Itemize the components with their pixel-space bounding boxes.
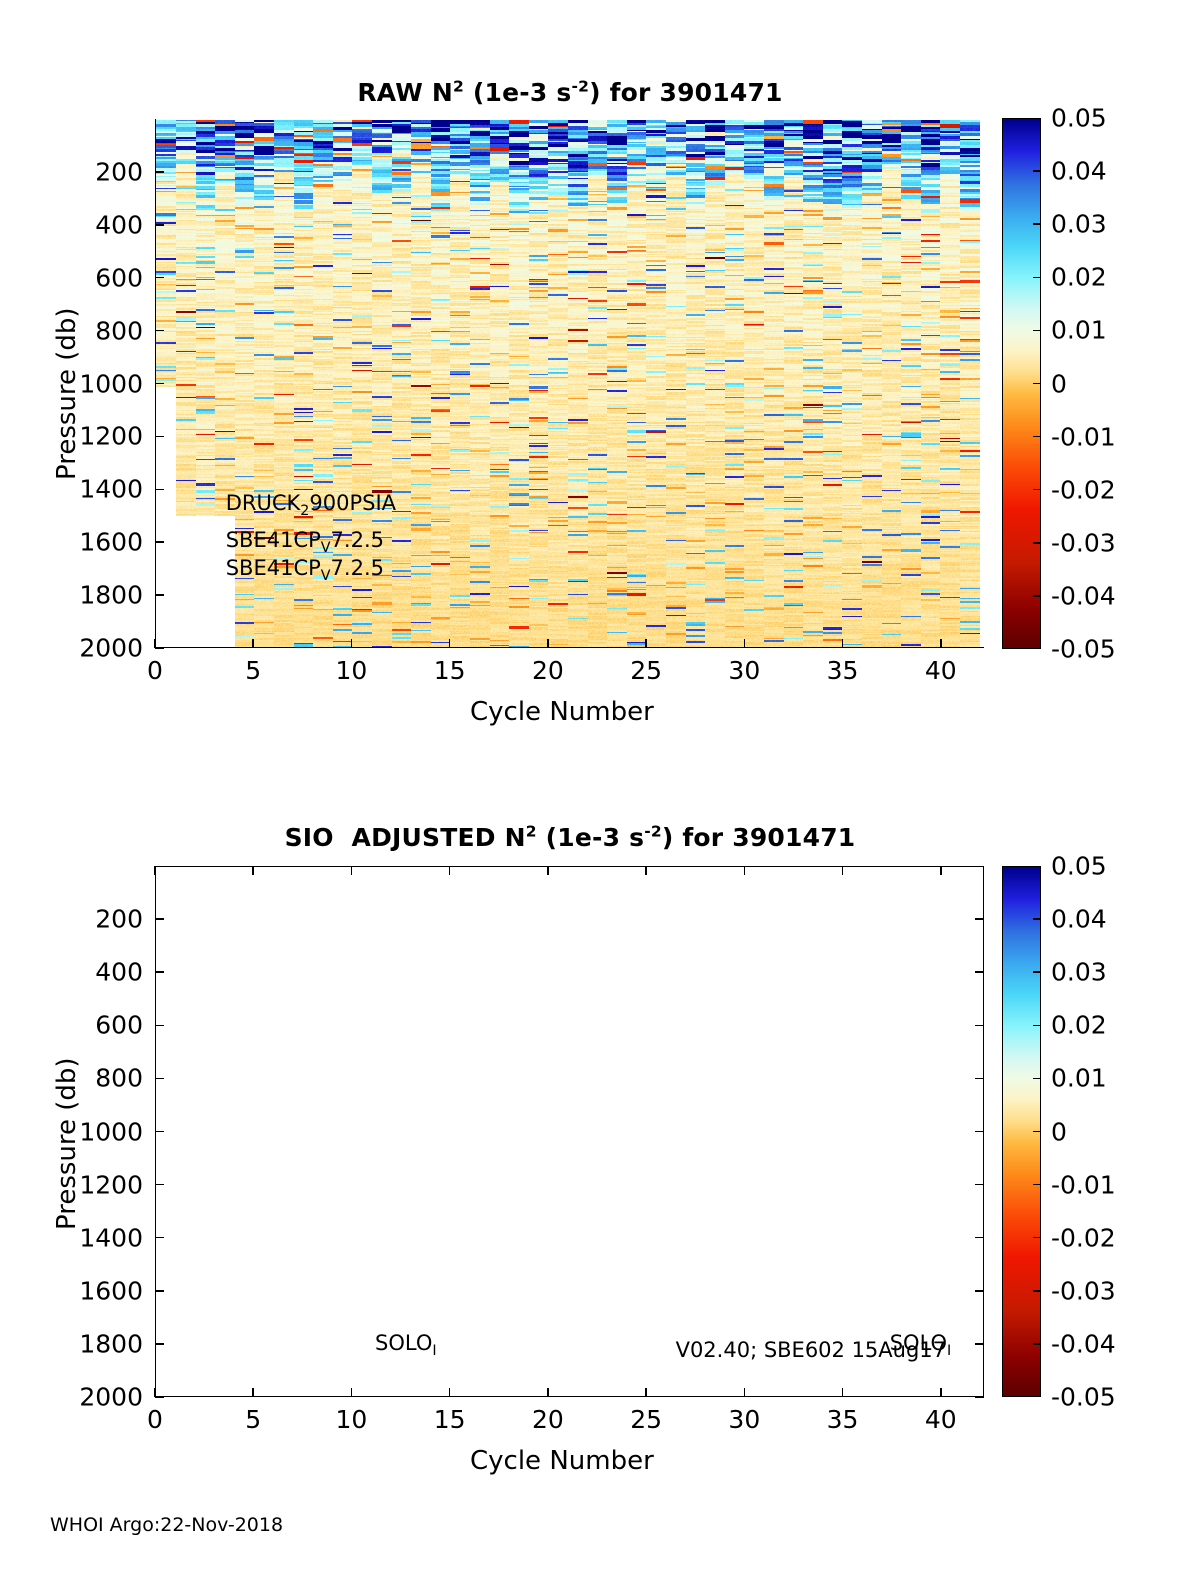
plot-annotation: SOLOI xyxy=(375,1331,437,1355)
colorbar-tick-label: -0.05 xyxy=(1051,1383,1116,1412)
colorbar-tick-mark xyxy=(1033,1131,1040,1133)
y-tick-label: 1800 xyxy=(43,1329,143,1358)
colorbar-tick-mark xyxy=(1033,971,1040,973)
colorbar-tick-label: -0.03 xyxy=(1051,1276,1116,1305)
y-tick-label: 400 xyxy=(43,210,143,239)
plot-annotation: SOLOI xyxy=(890,1331,952,1355)
colorbar-tick-mark xyxy=(1033,1025,1040,1027)
y-tick-mark-right xyxy=(975,1343,984,1345)
x-tick-label: 40 xyxy=(925,1405,957,1434)
adjusted-axes-frame xyxy=(155,866,984,1397)
y-tick-label: 600 xyxy=(43,1011,143,1040)
y-tick-mark xyxy=(155,594,164,596)
colorbar-tick-mark xyxy=(1033,223,1040,225)
y-tick-mark-right xyxy=(975,1237,984,1239)
y-tick-mark xyxy=(155,1237,164,1239)
y-tick-mark xyxy=(155,277,164,279)
x-tick-label: 0 xyxy=(147,656,163,685)
y-tick-label: 600 xyxy=(43,263,143,292)
colorbar-tick-mark xyxy=(1033,542,1040,544)
colorbar-tick-mark xyxy=(1033,918,1040,920)
raw-plot-title: RAW N2 (1e-3 s-2) for 3901471 xyxy=(155,78,985,107)
y-tick-mark xyxy=(155,918,164,920)
y-tick-mark xyxy=(155,1025,164,1027)
x-tick-mark-top xyxy=(351,866,353,875)
x-tick-mark xyxy=(645,1388,647,1397)
x-tick-mark xyxy=(154,639,156,648)
y-tick-mark xyxy=(155,1396,164,1398)
x-tick-mark xyxy=(547,639,549,648)
x-tick-mark xyxy=(252,1388,254,1397)
x-tick-label: 5 xyxy=(245,656,261,685)
x-tick-mark xyxy=(645,639,647,648)
y-tick-label: 1600 xyxy=(43,528,143,557)
y-tick-mark xyxy=(155,647,164,649)
y-tick-mark xyxy=(155,1290,164,1292)
colorbar-tick-mark xyxy=(1033,330,1040,332)
x-tick-label: 35 xyxy=(827,656,859,685)
y-tick-mark-right xyxy=(975,1025,984,1027)
colorbar-tick-label: -0.03 xyxy=(1051,528,1116,557)
adjusted-plot-title: SIO ADJUSTED N2 (1e-3 s-2) for 3901471 xyxy=(155,823,985,852)
colorbar-tick-mark xyxy=(1033,1343,1040,1345)
plot-annotation: SBE41CPV7.2.5 xyxy=(226,556,384,580)
colorbar-tick-label: -0.05 xyxy=(1051,635,1116,664)
x-tick-label: 15 xyxy=(434,656,466,685)
y-tick-label: 1800 xyxy=(43,581,143,610)
colorbar-tick-mark xyxy=(1033,436,1040,438)
y-tick-label: 200 xyxy=(43,905,143,934)
y-tick-mark-right xyxy=(975,918,984,920)
colorbar-tick-label: 0.02 xyxy=(1051,263,1107,292)
y-tick-label: 200 xyxy=(43,157,143,186)
y-tick-mark xyxy=(155,1184,164,1186)
colorbar-tick-label: -0.02 xyxy=(1051,475,1116,504)
colorbar-tick-mark xyxy=(1033,1078,1040,1080)
colorbar-tick-label: 0.03 xyxy=(1051,958,1107,987)
x-tick-label: 15 xyxy=(434,1405,466,1434)
colorbar-tick-label: 0.05 xyxy=(1051,852,1107,881)
x-tick-mark xyxy=(351,639,353,648)
colorbar-tick-label: -0.04 xyxy=(1051,581,1116,610)
x-tick-label: 20 xyxy=(532,656,564,685)
colorbar-tick-label: -0.04 xyxy=(1051,1329,1116,1358)
colorbar-tick-label: 0.04 xyxy=(1051,157,1107,186)
colorbar-tick-label: 0.05 xyxy=(1051,104,1107,133)
x-tick-label: 35 xyxy=(827,1405,859,1434)
x-tick-mark xyxy=(449,1388,451,1397)
x-tick-mark xyxy=(449,639,451,648)
plot-annotation: SBE41CPV7.2.5 xyxy=(226,528,384,552)
x-tick-label: 0 xyxy=(147,1405,163,1434)
x-tick-mark-top xyxy=(842,866,844,875)
colorbar-tick-label: 0.01 xyxy=(1051,316,1107,345)
colorbar-tick-mark xyxy=(1033,1184,1040,1186)
x-tick-label: 10 xyxy=(336,656,368,685)
adjusted-x-axis-label: Cycle Number xyxy=(470,1446,654,1476)
colorbar-tick-mark xyxy=(1033,595,1040,597)
x-tick-mark xyxy=(744,639,746,648)
colorbar-tick-label: 0.02 xyxy=(1051,1011,1107,1040)
colorbar-tick-label: 0 xyxy=(1051,369,1067,398)
x-tick-label: 40 xyxy=(925,656,957,685)
y-tick-mark xyxy=(155,330,164,332)
y-tick-mark xyxy=(155,224,164,226)
colorbar-tick-label: -0.01 xyxy=(1051,422,1116,451)
x-tick-mark xyxy=(842,1388,844,1397)
y-tick-mark xyxy=(155,1131,164,1133)
x-tick-label: 25 xyxy=(630,1405,662,1434)
y-tick-mark xyxy=(155,1078,164,1080)
x-tick-mark-top xyxy=(940,866,942,875)
plot-annotation: DRUCK2900PSIA xyxy=(226,491,396,515)
colorbar-tick-label: -0.02 xyxy=(1051,1223,1116,1252)
y-tick-mark xyxy=(155,436,164,438)
x-tick-mark xyxy=(940,639,942,648)
x-tick-mark-top xyxy=(744,866,746,875)
x-tick-label: 10 xyxy=(336,1405,368,1434)
y-tick-mark xyxy=(155,171,164,173)
y-tick-label: 2000 xyxy=(43,634,143,663)
x-tick-label: 30 xyxy=(728,1405,760,1434)
x-tick-mark-top xyxy=(252,866,254,875)
y-tick-mark xyxy=(155,489,164,491)
y-tick-mark xyxy=(155,1343,164,1345)
y-tick-mark-right xyxy=(975,971,984,973)
y-tick-mark-right xyxy=(975,1396,984,1398)
y-tick-mark-right xyxy=(975,1184,984,1186)
y-tick-mark-right xyxy=(975,1131,984,1133)
colorbar-tick-label: 0 xyxy=(1051,1117,1067,1146)
x-tick-mark-top xyxy=(154,866,156,875)
colorbar-tick-mark xyxy=(1033,383,1040,385)
colorbar-tick-mark xyxy=(1033,1290,1040,1292)
x-tick-mark-top xyxy=(645,866,647,875)
colorbar-tick-mark xyxy=(1033,489,1040,491)
x-tick-mark xyxy=(940,1388,942,1397)
raw-y-axis-label: Pressure (db) xyxy=(52,307,82,480)
y-tick-mark xyxy=(155,541,164,543)
figure-footer: WHOI Argo:22-Nov-2018 xyxy=(50,1514,283,1536)
x-tick-label: 30 xyxy=(728,656,760,685)
x-tick-mark xyxy=(744,1388,746,1397)
raw-x-axis-label: Cycle Number xyxy=(470,697,654,727)
x-tick-mark xyxy=(252,639,254,648)
adjusted-y-axis-label: Pressure (db) xyxy=(52,1057,82,1230)
colorbar-tick-mark xyxy=(1033,170,1040,172)
x-tick-mark-top xyxy=(449,866,451,875)
y-tick-mark-right xyxy=(975,1290,984,1292)
y-tick-label: 1600 xyxy=(43,1276,143,1305)
colorbar-tick-label: 0.03 xyxy=(1051,210,1107,239)
colorbar-tick-mark xyxy=(1033,277,1040,279)
x-tick-mark xyxy=(842,639,844,648)
y-tick-label: 400 xyxy=(43,958,143,987)
x-tick-mark xyxy=(547,1388,549,1397)
y-tick-label: 2000 xyxy=(43,1383,143,1412)
colorbar-tick-label: 0.04 xyxy=(1051,905,1107,934)
colorbar-tick-label: 0.01 xyxy=(1051,1064,1107,1093)
y-tick-mark xyxy=(155,383,164,385)
colorbar-tick-label: -0.01 xyxy=(1051,1170,1116,1199)
colorbar-tick-mark xyxy=(1033,1237,1040,1239)
x-tick-label: 25 xyxy=(630,656,662,685)
x-tick-mark xyxy=(351,1388,353,1397)
x-tick-mark-top xyxy=(547,866,549,875)
x-tick-mark xyxy=(154,1388,156,1397)
y-tick-mark xyxy=(155,971,164,973)
y-tick-mark-right xyxy=(975,1078,984,1080)
x-tick-label: 5 xyxy=(245,1405,261,1434)
x-tick-label: 20 xyxy=(532,1405,564,1434)
